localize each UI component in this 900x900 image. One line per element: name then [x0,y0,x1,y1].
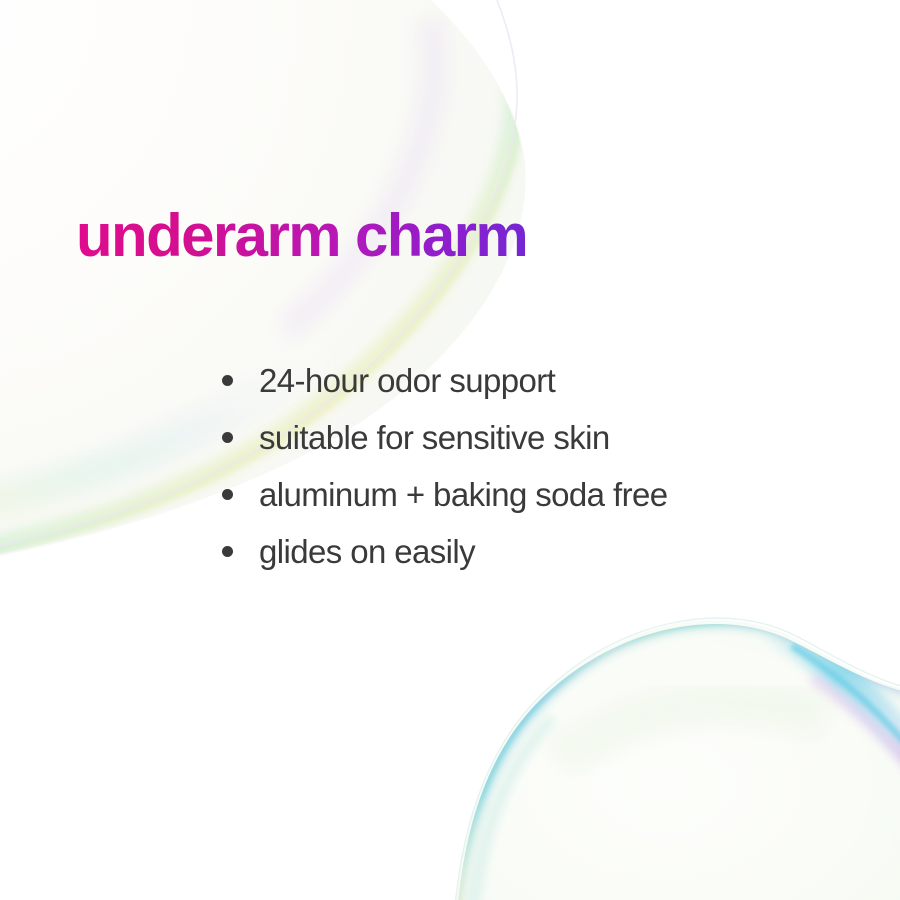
feature-list: 24-hour odor support suitable for sensit… [222,352,862,580]
feature-label: glides on easily [259,533,475,571]
list-item: glides on easily [222,523,862,580]
bullet-dot-icon [222,489,233,500]
bullet-dot-icon [222,375,233,386]
bullet-dot-icon [222,546,233,557]
feature-label: aluminum + baking soda free [259,476,667,514]
list-item: suitable for sensitive skin [222,409,862,466]
poster-canvas: underarm charm 24-hour odor support suit… [0,0,900,900]
page-title: underarm charm [76,206,836,266]
bullet-dot-icon [222,432,233,443]
feature-label: suitable for sensitive skin [259,419,610,457]
feature-label: 24-hour odor support [259,362,555,400]
list-item: aluminum + baking soda free [222,466,862,523]
headline-container: underarm charm [76,206,836,266]
bottom-right-bubble [452,618,900,900]
list-item: 24-hour odor support [222,352,862,409]
